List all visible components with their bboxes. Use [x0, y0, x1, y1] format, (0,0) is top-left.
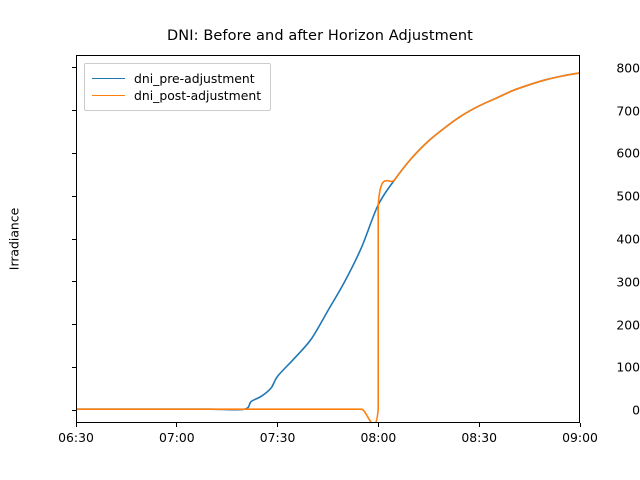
chart-title: DNI: Before and after Horizon Adjustment	[0, 28, 640, 44]
x-tick-mark	[176, 423, 177, 427]
y-tick-label: 800	[573, 60, 640, 75]
x-tick-mark	[277, 423, 278, 427]
x-tick-mark	[76, 423, 77, 427]
legend: dni_pre-adjustment dni_post-adjustment	[84, 63, 271, 111]
x-tick-label: 07:30	[260, 430, 296, 445]
legend-item-dni-pre-adjustment[interactable]: dni_pre-adjustment	[92, 70, 261, 87]
series-line-dni-pre-adjustment	[77, 73, 579, 410]
legend-label-1: dni_post-adjustment	[134, 88, 261, 103]
x-tick-mark	[378, 423, 379, 427]
y-tick-label: 300	[573, 274, 640, 289]
y-tick-label: 200	[573, 317, 640, 332]
figure-canvas: DNI: Before and after Horizon Adjustment…	[0, 0, 640, 480]
series-line-dni-post-adjustment	[77, 73, 579, 422]
y-tick-label: 500	[573, 189, 640, 204]
legend-label-0: dni_pre-adjustment	[134, 71, 255, 86]
x-tick-label: 07:00	[159, 430, 195, 445]
y-tick-label: 100	[573, 360, 640, 375]
x-tick-label: 09:00	[562, 430, 598, 445]
y-tick-label: 600	[573, 146, 640, 161]
x-tick-label: 06:30	[58, 430, 94, 445]
x-tick-label: 08:30	[461, 430, 497, 445]
y-tick-label: 400	[573, 232, 640, 247]
y-tick-label: 0	[573, 403, 640, 418]
y-tick-label: 700	[573, 103, 640, 118]
legend-swatch-icon-1	[92, 95, 125, 96]
legend-swatch-icon-0	[92, 78, 125, 79]
legend-item-dni-post-adjustment[interactable]: dni_post-adjustment	[92, 87, 261, 104]
x-tick-label: 08:00	[361, 430, 397, 445]
x-tick-mark	[580, 423, 581, 427]
x-tick-mark	[479, 423, 480, 427]
y-axis-label: Irradiance	[7, 208, 22, 270]
